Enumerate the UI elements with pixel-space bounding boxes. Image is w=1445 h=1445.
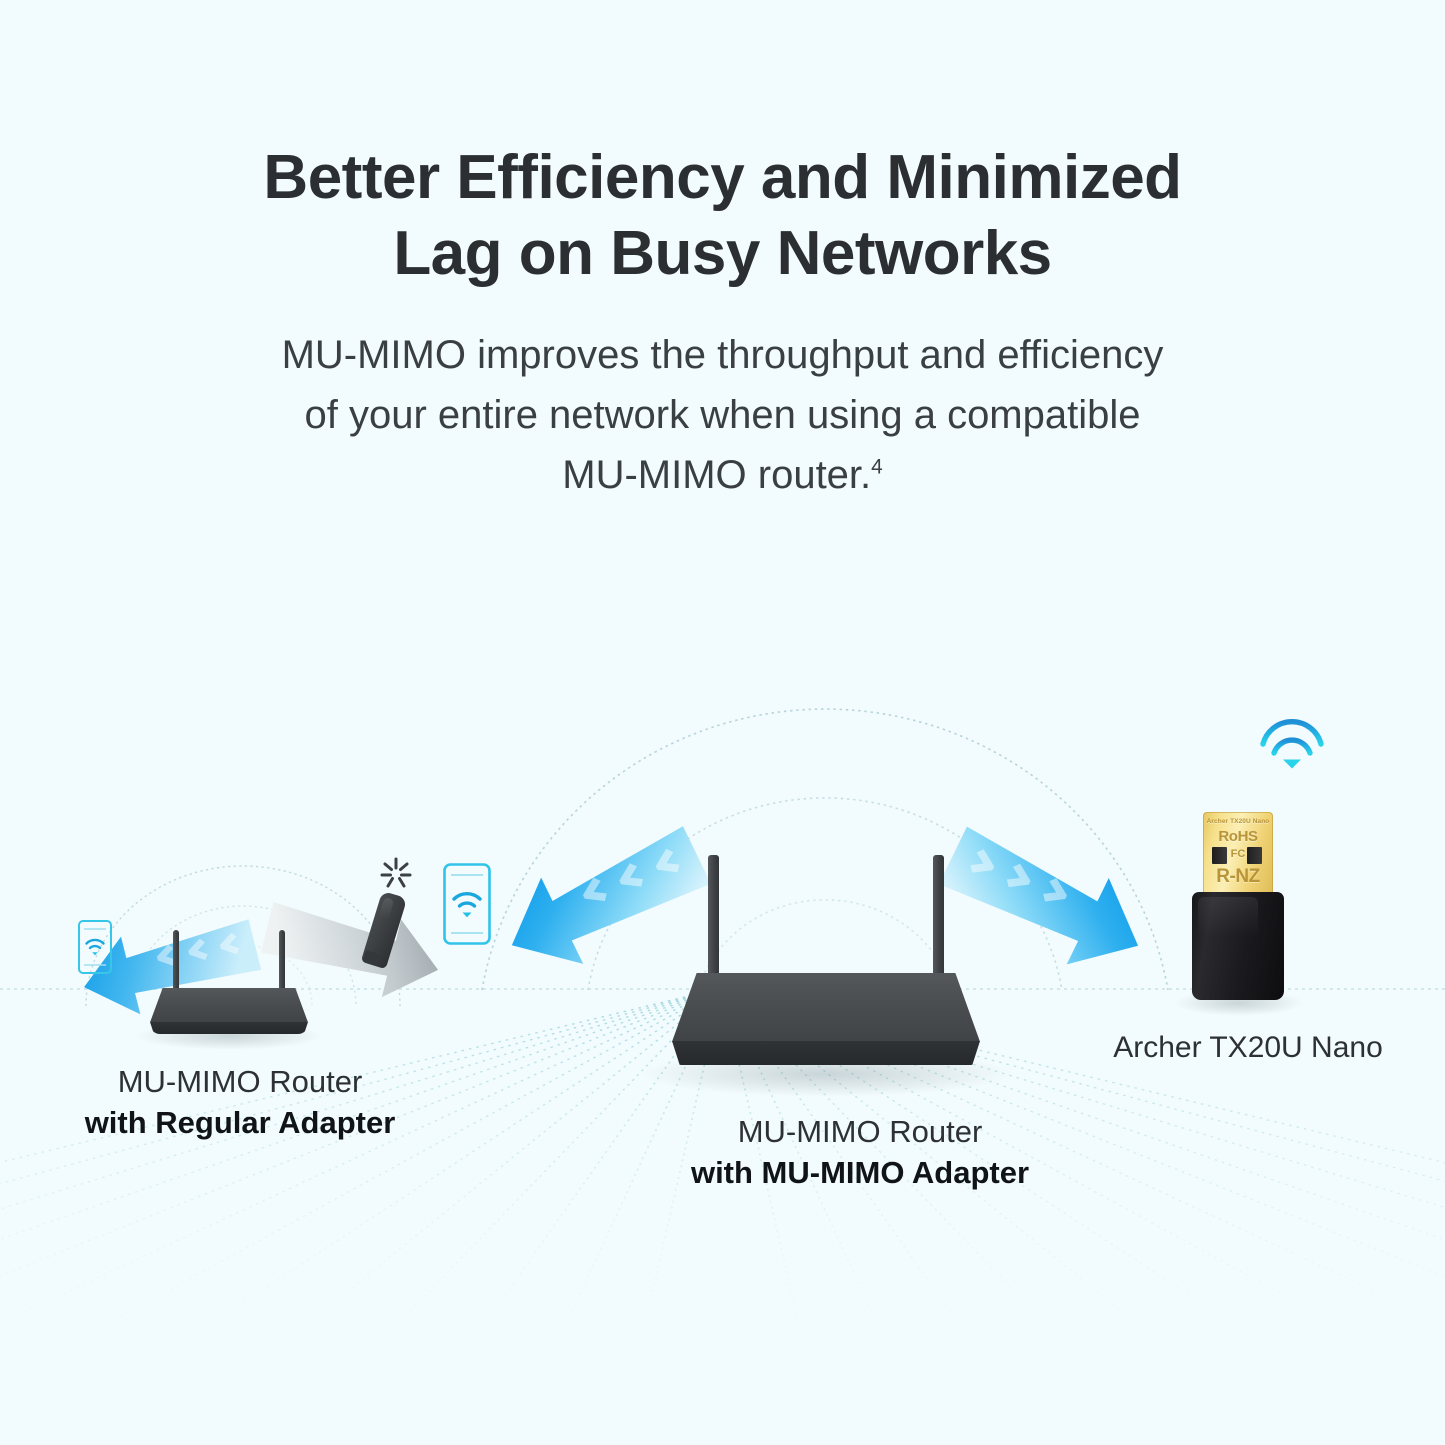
adapter-rnz-text: R-NZ: [1203, 867, 1273, 886]
subtitle-line-2: of your entire network when using a comp…: [304, 393, 1140, 437]
burst-icon: [379, 856, 413, 890]
page-title: Better Efficiency and Minimized Lag on B…: [0, 140, 1445, 291]
footnote-marker: 4: [871, 456, 883, 479]
center-router: [672, 855, 980, 1075]
subtitle-line-3: MU-MIMO router.: [562, 453, 871, 497]
left-router-base: [150, 1022, 308, 1034]
center-scene-label: MU-MIMO Router with MU-MIMO Adapter: [510, 1112, 1210, 1194]
center-label-line-1: MU-MIMO Router: [510, 1112, 1210, 1153]
adapter-housing: [1192, 892, 1284, 1000]
headline-line-1: Better Efficiency and Minimized: [263, 143, 1181, 212]
center-router-base: [672, 1041, 980, 1065]
adapter-contact-pin-1: [1212, 847, 1227, 864]
adapter-usb-connector: Archer TX20U Nano RoHS FC R-NZ: [1203, 812, 1273, 904]
left-phone-icon: [78, 920, 112, 974]
left-router-antenna-2: [279, 930, 285, 996]
left-label-line-1: MU-MIMO Router: [0, 1062, 480, 1103]
center-label-line-2: with MU-MIMO Adapter: [510, 1153, 1210, 1194]
adapter-rohs-text: RoHS: [1203, 829, 1273, 844]
adapter-model-text: Archer TX20U Nano: [1203, 819, 1273, 826]
left-scene-phone-icon: [443, 863, 491, 945]
right-label-line-1: Archer TX20U Nano: [1058, 1028, 1438, 1068]
left-scene-label: MU-MIMO Router with Regular Adapter: [0, 1062, 480, 1144]
adapter-wifi-icon: [1258, 718, 1326, 770]
left-label-line-2: with Regular Adapter: [0, 1103, 480, 1144]
left-router-antenna-1: [173, 930, 179, 996]
left-router: [150, 930, 308, 1035]
adapter-contact-pin-2: [1247, 847, 1262, 864]
page-subtitle: MU-MIMO improves the throughput and effi…: [163, 325, 1283, 505]
right-scene-label: Archer TX20U Nano: [1058, 1028, 1438, 1068]
center-router-antenna-2: [933, 855, 944, 983]
header-block: Better Efficiency and Minimized Lag on B…: [0, 140, 1445, 505]
archer-tx20u-nano-adapter: Archer TX20U Nano RoHS FC R-NZ: [1192, 812, 1284, 1000]
product-illustration: Better Efficiency and Minimized Lag on B…: [0, 0, 1445, 1445]
headline-line-2: Lag on Busy Networks: [393, 219, 1051, 288]
subtitle-line-1: MU-MIMO improves the throughput and effi…: [282, 333, 1164, 377]
center-router-antenna-1: [708, 855, 719, 983]
